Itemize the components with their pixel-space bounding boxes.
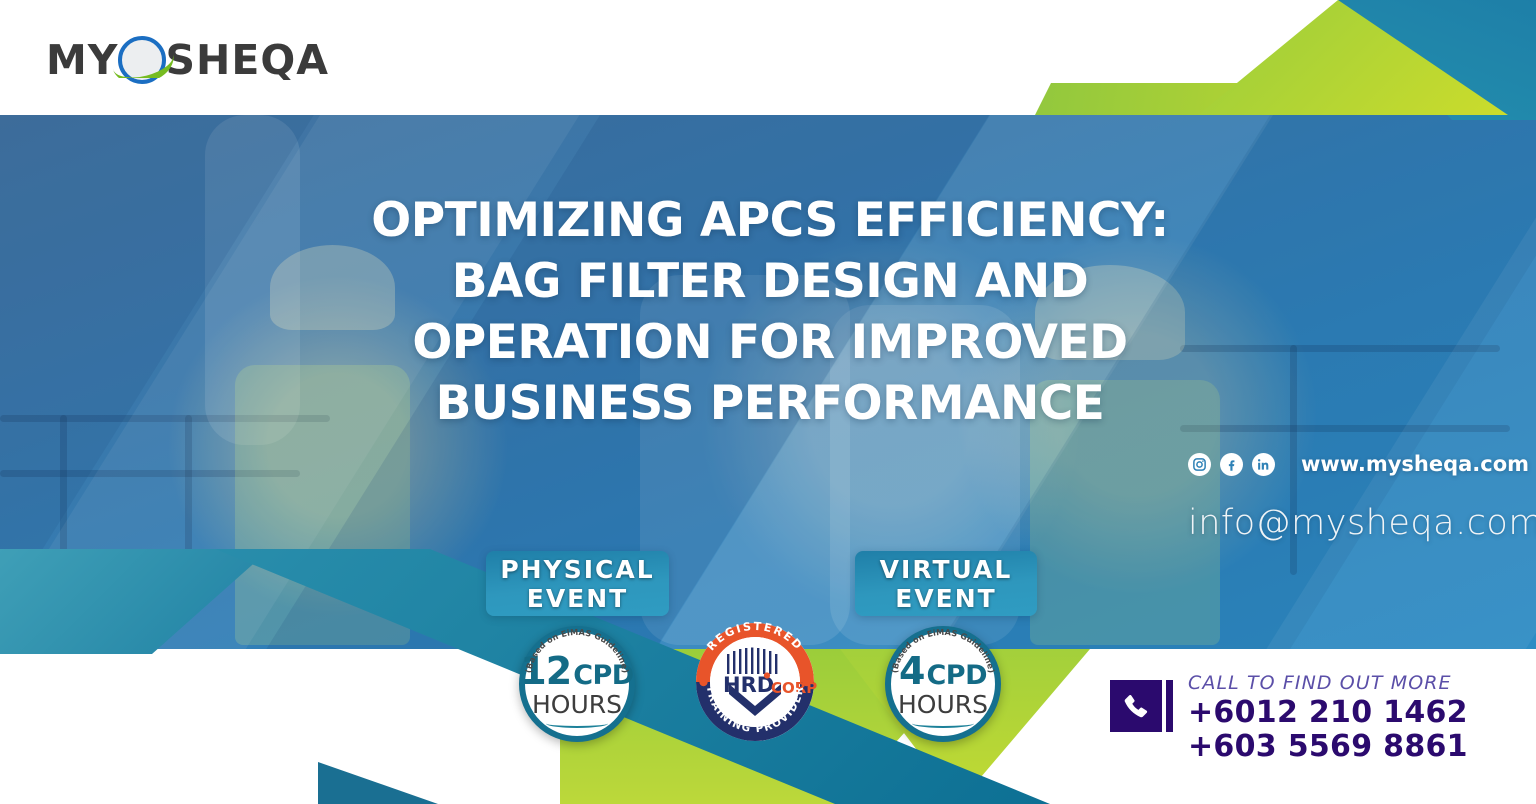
cpd-hours-label: HOURS <box>898 692 988 718</box>
cpd-hours-label: HOURS <box>532 692 622 718</box>
facebook-icon[interactable] <box>1220 453 1243 476</box>
instagram-icon[interactable] <box>1188 453 1211 476</box>
cpd-value-physical: 12 CPD <box>520 654 633 693</box>
physical-event-line-2: EVENT <box>527 584 628 613</box>
title-line-4: BUSINESS PERFORMANCE <box>200 373 1340 434</box>
linkedin-icon[interactable] <box>1252 453 1275 476</box>
virtual-event-badge: VIRTUAL EVENT <box>855 551 1037 616</box>
cpd-number: 12 <box>520 654 571 688</box>
physical-event-line-1: PHYSICAL <box>500 555 654 584</box>
cpd-label: CPD <box>573 659 634 693</box>
phone-icon <box>1110 680 1162 732</box>
event-banner: MY SHEQA OPTIMIZING APCS EFFICIENCY: BAG… <box>0 0 1536 804</box>
website-url[interactable]: www.mysheqa.com <box>1301 452 1529 476</box>
phone-number-2[interactable]: +603 5569 8861 <box>1188 730 1468 764</box>
phone-number-1[interactable]: +6012 210 1462 <box>1188 696 1468 730</box>
globe-swoosh-icon <box>114 32 170 88</box>
title-line-1: OPTIMIZING APCS EFFICIENCY: <box>200 190 1340 251</box>
cpd-underline-swoosh <box>546 719 608 728</box>
cpd-value-virtual: 4 CPD <box>899 654 987 693</box>
logo[interactable]: MY SHEQA <box>46 36 329 84</box>
cpd-badge-virtual: (Based on EiMAS Guideline) 4 CPD HOURS <box>885 626 1001 742</box>
page-title: OPTIMIZING APCS EFFICIENCY: BAG FILTER D… <box>200 190 1340 434</box>
virtual-event-line-1: VIRTUAL <box>880 555 1013 584</box>
physical-event-badge: PHYSICAL EVENT <box>486 551 669 616</box>
social-and-website: www.mysheqa.com <box>1188 452 1529 476</box>
call-to-action: CALL TO FIND OUT MORE +6012 210 1462 +60… <box>1110 672 1468 764</box>
cpd-underline-swoosh <box>912 719 974 728</box>
cpd-label: CPD <box>926 659 987 693</box>
title-line-2: BAG FILTER DESIGN AND <box>200 251 1340 312</box>
cpd-number: 4 <box>899 654 924 688</box>
cpd-badge-physical: (Based on EiMAS Guideline) 12 CPD HOURS <box>519 626 635 742</box>
hrd-corp-badge: HRD CORP REGISTERED TRAINING PROVIDER <box>683 620 827 744</box>
email-address[interactable]: info@mysheqa.com <box>1188 503 1536 543</box>
title-line-3: OPERATION FOR IMPROVED <box>200 312 1340 373</box>
logo-text-sheqa: SHEQA <box>166 36 329 84</box>
virtual-event-line-2: EVENT <box>895 584 996 613</box>
call-label: CALL TO FIND OUT MORE <box>1188 672 1468 694</box>
logo-text-my: MY <box>46 36 119 84</box>
